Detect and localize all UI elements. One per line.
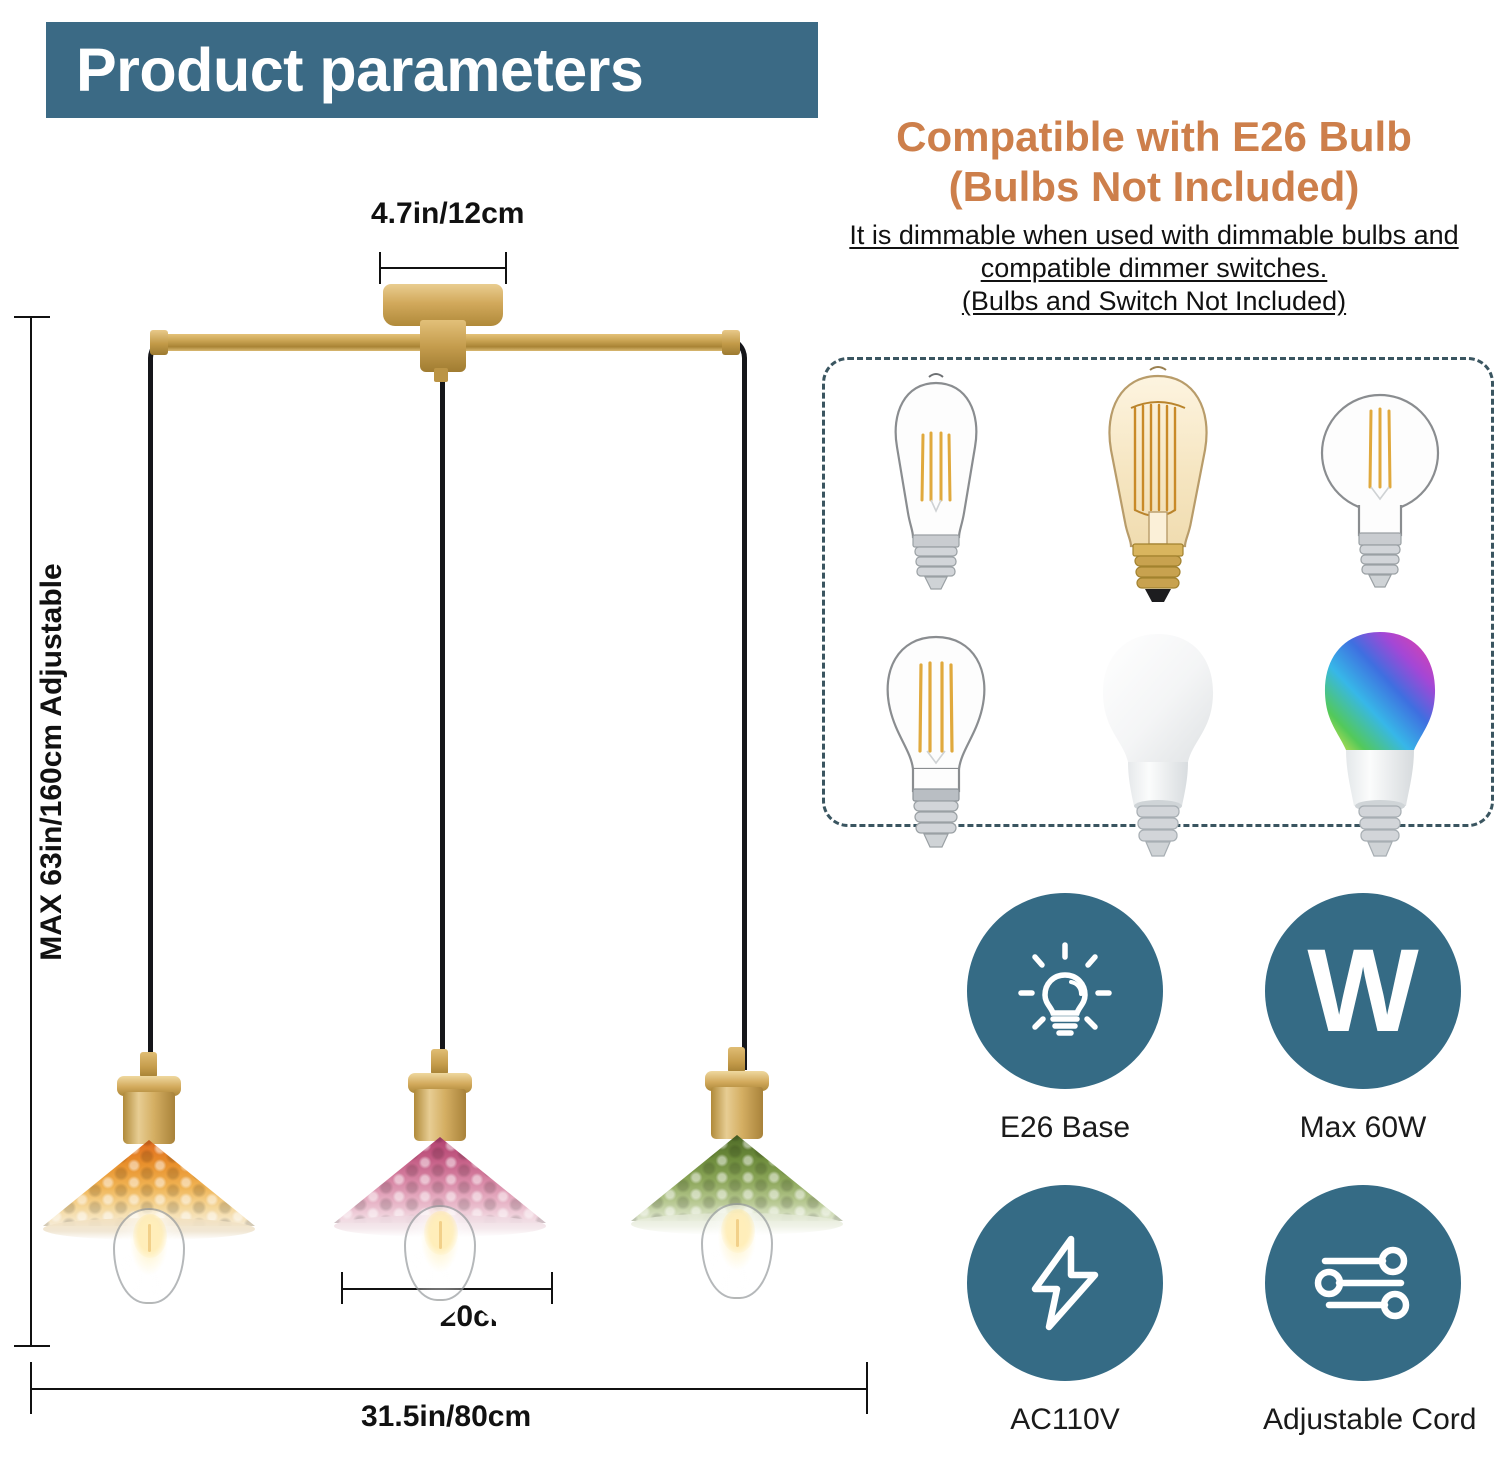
compat-heading-line1: Compatible with E26 Bulb: [815, 112, 1493, 162]
bulb-illustration: [404, 1205, 476, 1301]
feature-adjustable-cord: Adjustable Cord: [1263, 1185, 1463, 1437]
pendant-light-illustration: [0, 0, 900, 1457]
product-dimension-diagram: 4.7in/12cm MAX 63in/160cm Adjustable 7.8…: [0, 0, 900, 1457]
bulb-rgb-smart-led: [1269, 620, 1491, 875]
cord-right: [742, 358, 747, 1070]
canopy-nut: [434, 368, 448, 382]
bulb-illustration: [113, 1208, 185, 1304]
letter-w-icon: W: [1307, 932, 1418, 1050]
cord-left: [148, 358, 153, 1070]
feature-circle: W: [1265, 893, 1461, 1089]
feature-circle: [967, 1185, 1163, 1381]
feature-circle: [1265, 1185, 1461, 1381]
bar-end-cap-right: [722, 330, 740, 355]
bar-end-cap-left: [150, 330, 168, 355]
feature-label: Adjustable Cord: [1263, 1403, 1463, 1437]
compat-heading-line2: (Bulbs Not Included): [815, 162, 1493, 212]
feature-label: AC110V: [965, 1403, 1165, 1437]
canopy-neck: [420, 320, 466, 372]
bulb-a19-frosted-led: [1047, 620, 1269, 875]
feature-icons: E26 Base W Max 60W AC110V: [955, 893, 1475, 1453]
compat-subtext-line1: It is dimmable when used with dimmable b…: [815, 219, 1493, 252]
feature-e26-base: E26 Base: [965, 893, 1165, 1145]
compatible-bulbs-box: [822, 357, 1494, 827]
feature-label: E26 Base: [965, 1111, 1165, 1145]
feature-voltage: AC110V: [965, 1185, 1165, 1437]
bulb-g25-globe-filament: [1269, 360, 1491, 620]
lightning-bolt-icon: [1009, 1227, 1121, 1339]
cord-center: [440, 370, 445, 1065]
compat-subtext-line2: compatible dimmer switches.: [815, 252, 1493, 285]
bulb-illustration: [701, 1203, 773, 1299]
feature-circle: [967, 893, 1163, 1089]
compatibility-header: Compatible with E26 Bulb (Bulbs Not Incl…: [815, 112, 1493, 318]
lightbulb-rays-icon: [1005, 931, 1125, 1051]
sliders-icon: [1305, 1225, 1421, 1341]
feature-max-wattage: W Max 60W: [1263, 893, 1463, 1145]
bulb-st64-vintage-amber: [1047, 360, 1269, 620]
compat-subtext-line3: (Bulbs and Switch Not Included): [815, 285, 1493, 318]
feature-label: Max 60W: [1263, 1111, 1463, 1145]
